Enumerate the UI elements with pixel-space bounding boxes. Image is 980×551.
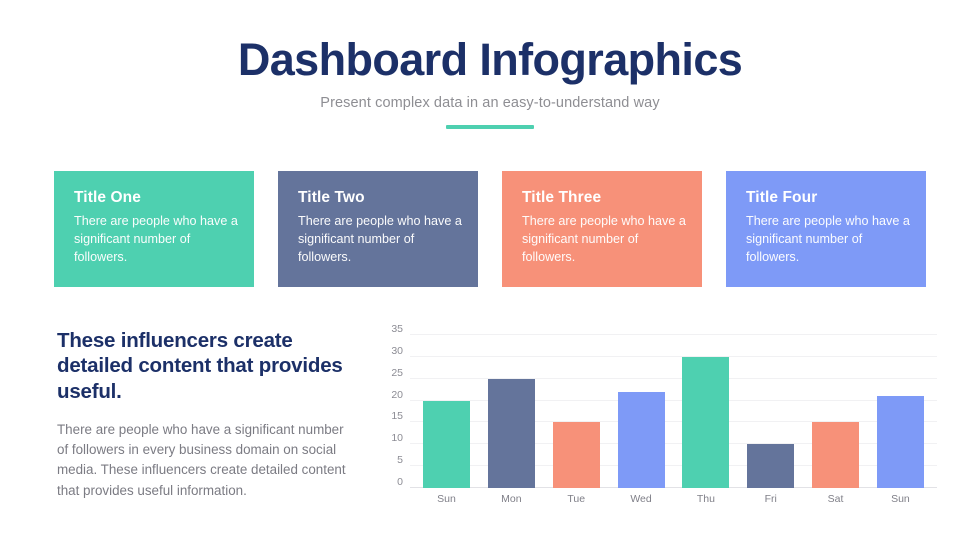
bar-slot <box>547 335 606 488</box>
y-axis-tick-label: 35 <box>391 323 403 335</box>
x-axis-tick-label: Tue <box>547 493 606 505</box>
chart-bars <box>410 335 937 488</box>
y-axis-tick-label: 20 <box>391 389 403 401</box>
chart-bar[interactable] <box>812 422 859 488</box>
feature-card-four-body: There are people who have a significant … <box>746 213 910 267</box>
y-axis-tick-label: 5 <box>397 454 403 466</box>
chart-x-axis: SunMonTueWedThuFriSatSun <box>410 493 937 505</box>
chart-y-axis: 05101520253035 <box>381 327 408 488</box>
feature-card-two-body: There are people who have a significant … <box>298 213 462 267</box>
feature-card-three[interactable]: Title Three There are people who have a … <box>502 171 702 287</box>
feature-card-three-title: Title Three <box>522 189 686 207</box>
chart-bar[interactable] <box>423 401 470 488</box>
chart-bar[interactable] <box>618 392 665 488</box>
feature-card-four-title: Title Four <box>746 189 910 207</box>
chart-bar[interactable] <box>682 357 729 488</box>
feature-card-one-body: There are people who have a significant … <box>74 213 238 267</box>
bar-slot <box>806 335 865 488</box>
x-axis-tick-label: Wed <box>612 493 671 505</box>
lower-body: There are people who have a significant … <box>57 420 347 500</box>
y-axis-tick-label: 10 <box>391 432 403 444</box>
lower-heading: These influencers create detailed conten… <box>57 328 347 404</box>
chart-bar[interactable] <box>877 396 924 488</box>
chart-plot-area <box>410 335 937 488</box>
bar-chart: 05101520253035 SunMonTueWedThuFriSatSun <box>381 327 937 519</box>
chart-bar[interactable] <box>553 422 600 488</box>
y-axis-tick-label: 25 <box>391 367 403 379</box>
chart-bar[interactable] <box>747 444 794 488</box>
feature-card-two[interactable]: Title Two There are people who have a si… <box>278 171 478 287</box>
y-axis-tick-label: 15 <box>391 410 403 422</box>
x-axis-tick-label: Mon <box>482 493 541 505</box>
x-axis-tick-label: Sat <box>806 493 865 505</box>
bar-slot <box>871 335 930 488</box>
chart-bar[interactable] <box>488 379 535 488</box>
bar-slot <box>482 335 541 488</box>
title-divider <box>446 125 534 129</box>
bar-slot <box>741 335 800 488</box>
feature-card-four[interactable]: Title Four There are people who have a s… <box>726 171 926 287</box>
lower-section: These influencers create detailed conten… <box>0 322 980 551</box>
y-axis-tick-label: 0 <box>397 476 403 488</box>
x-axis-tick-label: Fri <box>741 493 800 505</box>
lower-text-block: These influencers create detailed conten… <box>57 328 347 501</box>
bar-slot <box>612 335 671 488</box>
page-subtitle: Present complex data in an easy-to-under… <box>0 95 980 111</box>
x-axis-tick-label: Sun <box>871 493 930 505</box>
feature-card-one-title: Title One <box>74 189 238 207</box>
feature-cards-row: Title One There are people who have a si… <box>54 171 926 287</box>
x-axis-tick-label: Sun <box>417 493 476 505</box>
x-axis-tick-label: Thu <box>676 493 735 505</box>
feature-card-one[interactable]: Title One There are people who have a si… <box>54 171 254 287</box>
bar-slot <box>676 335 735 488</box>
bar-slot <box>417 335 476 488</box>
feature-card-three-body: There are people who have a significant … <box>522 213 686 267</box>
y-axis-tick-label: 30 <box>391 345 403 357</box>
page-title: Dashboard Infographics <box>0 36 980 83</box>
feature-card-two-title: Title Two <box>298 189 462 207</box>
page-header: Dashboard Infographics Present complex d… <box>0 0 980 129</box>
